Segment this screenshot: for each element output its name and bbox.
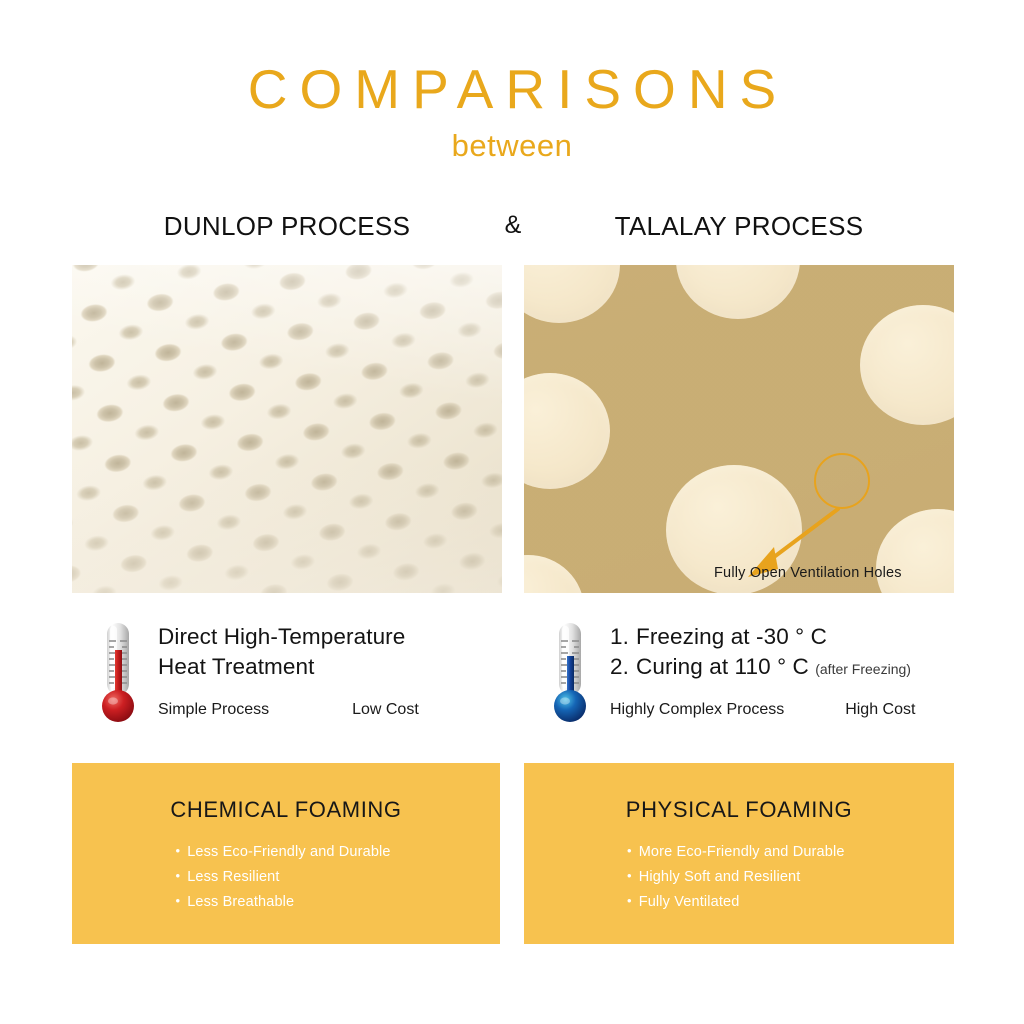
bullet-text: Less Breathable: [187, 890, 294, 914]
list-item: Less Eco-Friendly and Durable: [72, 839, 500, 864]
bullet-text: Fully Ventilated: [639, 890, 740, 914]
talalay-step-2-note: (after Freezing): [815, 661, 911, 677]
talalay-steps-heading: 1.Freezing at -30 ° C 2.Curing at 110 ° …: [610, 622, 911, 682]
physical-foaming-title: PHYSICAL FOAMING: [524, 797, 954, 823]
list-item: Fully Ventilated: [524, 889, 954, 914]
list-item: More Eco-Friendly and Durable: [524, 839, 954, 864]
dunlop-heading-line-1: Direct High-Temperature: [158, 622, 405, 652]
talalay-step-1-text: Freezing at -30 ° C: [636, 624, 827, 649]
talalay-step-2-text: Curing at 110 ° C: [636, 654, 809, 679]
physical-foaming-bullet-list: More Eco-Friendly and Durable Highly Sof…: [524, 839, 954, 914]
bullet-text: Less Eco-Friendly and Durable: [187, 840, 390, 864]
heading-dunlop-process: DUNLOP PROCESS: [72, 211, 502, 242]
ventilation-holes-caption: Fully Open Ventilation Holes: [714, 565, 902, 581]
talalay-process-complexity: Highly Complex Process: [610, 701, 784, 718]
dunlop-foam-photo: [72, 265, 502, 593]
chemical-foaming-panel: CHEMICAL FOAMING Less Eco-Friendly and D…: [72, 763, 500, 944]
blue-thermometer-icon: [542, 617, 598, 725]
talalay-process-detail: 1.Freezing at -30 ° C 2.Curing at 110 ° …: [524, 612, 954, 732]
comparison-infographic: COMPARISONS between DUNLOP PROCESS & TAL…: [0, 0, 1024, 1024]
page-subtitle: between: [0, 128, 1024, 164]
talalay-attributes: Highly Complex Process High Cost: [610, 701, 915, 719]
bullet-text: More Eco-Friendly and Durable: [639, 840, 845, 864]
talalay-step-2: 2.Curing at 110 ° C (after Freezing): [610, 652, 911, 682]
bullet-text: Highly Soft and Resilient: [639, 865, 801, 889]
talalay-cost-level: High Cost: [845, 701, 915, 719]
red-thermometer-icon: [90, 617, 146, 725]
list-item: Less Breathable: [72, 889, 500, 914]
talalay-step-2-number: 2.: [610, 652, 636, 682]
chemical-foaming-title: CHEMICAL FOAMING: [72, 797, 500, 823]
dunlop-heading-line-2: Heat Treatment: [158, 652, 405, 682]
physical-foaming-panel: PHYSICAL FOAMING More Eco-Friendly and D…: [524, 763, 954, 944]
page-title: COMPARISONS: [0, 62, 1024, 117]
dunlop-attributes: Simple Process Low Cost: [158, 701, 419, 719]
talalay-step-1: 1.Freezing at -30 ° C: [610, 622, 911, 652]
list-item: Less Resilient: [72, 864, 500, 889]
dunlop-process-detail: Direct High-Temperature Heat Treatment S…: [72, 612, 502, 732]
chemical-foaming-bullet-list: Less Eco-Friendly and Durable Less Resil…: [72, 839, 500, 914]
heading-talalay-process: TALALAY PROCESS: [524, 211, 954, 242]
dunlop-process-complexity: Simple Process: [158, 701, 269, 718]
talalay-step-1-number: 1.: [610, 622, 636, 652]
dunlop-heat-treatment-heading: Direct High-Temperature Heat Treatment: [158, 622, 405, 682]
dunlop-photo-lighting: [72, 265, 502, 593]
list-item: Highly Soft and Resilient: [524, 864, 954, 889]
process-heading-row: DUNLOP PROCESS & TALALAY PROCESS: [0, 211, 1024, 247]
bullet-text: Less Resilient: [187, 865, 279, 889]
talalay-foam-photo: Fully Open Ventilation Holes: [524, 265, 954, 593]
dunlop-cost-level: Low Cost: [352, 701, 419, 719]
